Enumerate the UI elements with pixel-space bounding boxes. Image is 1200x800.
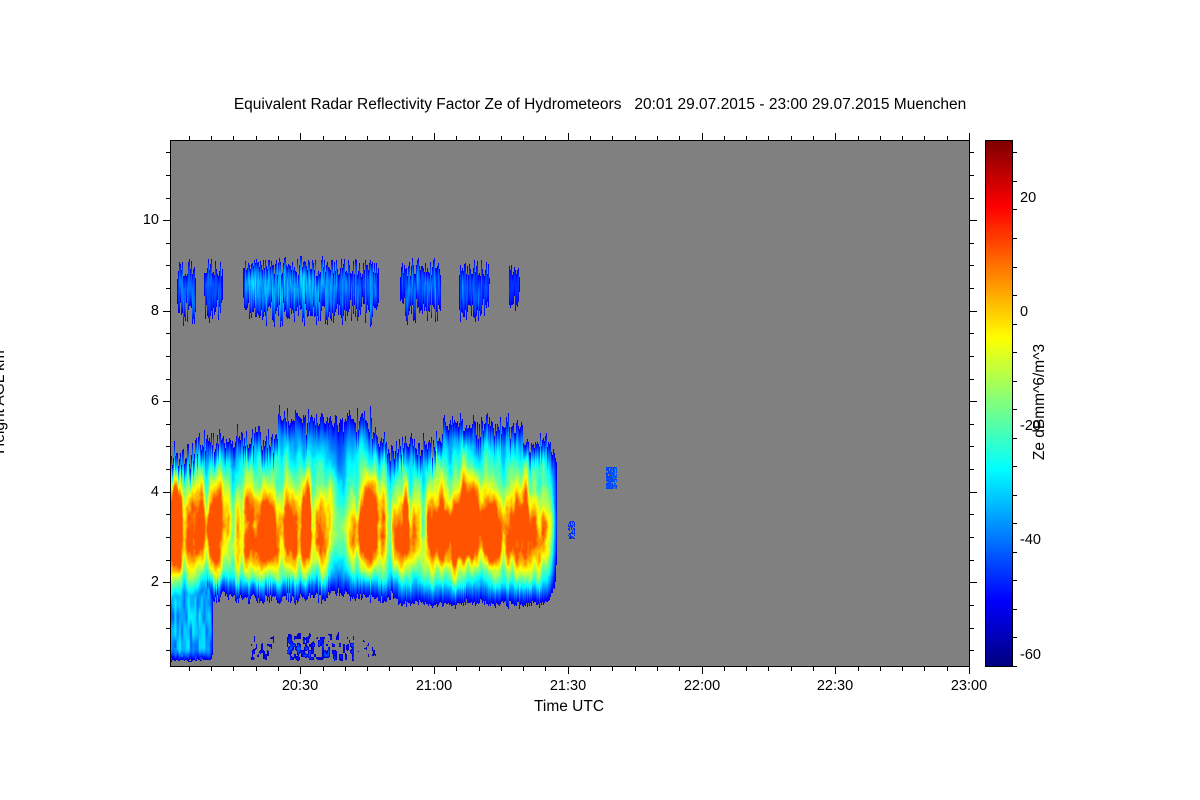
x-tick-minor [345, 136, 346, 140]
x-tick-minor [947, 136, 948, 140]
x-tick-minor [211, 136, 212, 140]
y-tick-minor [970, 537, 974, 538]
x-tick-minor [389, 136, 390, 140]
page-title: Equivalent Radar Reflectivity Factor Ze … [0, 96, 1200, 114]
x-tick-label: 21:00 [416, 678, 452, 694]
x-tick-minor [189, 667, 190, 671]
x-tick-minor [256, 136, 257, 140]
x-tick-minor [233, 136, 234, 140]
colorbar-tick-label: -60 [1020, 647, 1041, 663]
x-tick-minor [479, 667, 480, 671]
plot-area [170, 140, 970, 667]
y-tick-major [970, 220, 977, 221]
y-tick-minor [166, 446, 170, 447]
y-tick-minor [166, 356, 170, 357]
colorbar-tick [1013, 523, 1017, 524]
x-tick-minor [545, 136, 546, 140]
x-tick-major [300, 133, 301, 140]
x-tick-minor [880, 667, 881, 671]
y-tick-minor [166, 560, 170, 561]
y-tick-minor [970, 152, 974, 153]
x-tick-minor [278, 136, 279, 140]
x-tick-minor [501, 136, 502, 140]
x-tick-minor [880, 136, 881, 140]
x-tick-minor [590, 667, 591, 671]
y-tick-minor [970, 333, 974, 334]
colorbar-tick [1013, 267, 1017, 268]
x-tick-minor [367, 136, 368, 140]
radar-figure: Equivalent Radar Reflectivity Factor Ze … [0, 0, 1200, 800]
x-tick-label: 20:30 [282, 678, 318, 694]
x-tick-minor [523, 667, 524, 671]
x-tick-minor [657, 136, 658, 140]
y-tick-minor [166, 514, 170, 515]
x-tick-minor [590, 136, 591, 140]
x-tick-minor [791, 136, 792, 140]
y-tick-major [163, 401, 170, 402]
y-axis-label: Height AGL km [0, 292, 9, 512]
y-tick-label: 10 [113, 212, 159, 228]
x-tick-minor [323, 136, 324, 140]
x-tick-major [969, 667, 970, 674]
y-tick-minor [166, 265, 170, 266]
y-tick-minor [166, 628, 170, 629]
y-tick-minor [166, 605, 170, 606]
x-tick-minor [947, 667, 948, 671]
x-tick-minor [389, 667, 390, 671]
x-tick-minor [479, 136, 480, 140]
x-tick-minor [545, 667, 546, 671]
x-tick-minor [612, 136, 613, 140]
x-tick-minor [233, 667, 234, 671]
x-tick-minor [768, 136, 769, 140]
y-tick-major [163, 492, 170, 493]
x-tick-major [568, 133, 569, 140]
x-tick-minor [924, 667, 925, 671]
y-tick-minor [970, 175, 974, 176]
x-tick-minor [657, 667, 658, 671]
x-tick-major [702, 667, 703, 674]
y-tick-minor [970, 605, 974, 606]
x-tick-minor [256, 667, 257, 671]
x-tick-label: 22:00 [684, 678, 720, 694]
x-tick-major [434, 667, 435, 674]
colorbar-label: Ze dBmm^6/m^3 [1031, 252, 1049, 552]
colorbar-tick [1013, 181, 1017, 182]
x-tick-major [300, 667, 301, 674]
y-tick-minor [166, 175, 170, 176]
x-tick-major [835, 667, 836, 674]
y-tick-major [970, 582, 977, 583]
colorbar [985, 140, 1013, 667]
y-tick-minor [970, 469, 974, 470]
colorbar-tick [1013, 666, 1017, 667]
y-tick-label: 2 [113, 574, 159, 590]
x-tick-label: 23:00 [951, 678, 987, 694]
y-tick-minor [166, 379, 170, 380]
y-tick-label: 4 [113, 484, 159, 500]
radar-reflectivity-heatmap [171, 141, 969, 666]
y-tick-minor [166, 288, 170, 289]
y-tick-minor [166, 198, 170, 199]
colorbar-tick [1013, 552, 1017, 553]
x-tick-minor [323, 667, 324, 671]
y-tick-minor [166, 537, 170, 538]
colorbar-tick-label: 0 [1020, 304, 1028, 320]
y-tick-minor [970, 446, 974, 447]
x-tick-major [434, 133, 435, 140]
colorbar-tick [1013, 580, 1017, 581]
x-tick-minor [501, 667, 502, 671]
y-tick-minor [970, 514, 974, 515]
y-tick-minor [970, 198, 974, 199]
x-tick-minor [858, 136, 859, 140]
x-tick-minor [768, 667, 769, 671]
y-tick-minor [970, 650, 974, 651]
colorbar-tick [1013, 238, 1017, 239]
y-tick-label: 6 [113, 393, 159, 409]
y-tick-minor [166, 333, 170, 334]
x-tick-minor [724, 136, 725, 140]
x-axis-label: Time UTC [170, 698, 968, 716]
x-tick-minor [523, 136, 524, 140]
x-tick-minor [924, 136, 925, 140]
colorbar-tick [1013, 324, 1017, 325]
x-tick-minor [724, 667, 725, 671]
x-tick-minor [813, 667, 814, 671]
y-tick-minor [970, 243, 974, 244]
y-tick-minor [970, 628, 974, 629]
x-tick-minor [679, 667, 680, 671]
y-tick-minor [166, 469, 170, 470]
x-tick-minor [635, 136, 636, 140]
colorbar-tick [1013, 209, 1017, 210]
y-tick-major [970, 401, 977, 402]
x-tick-minor [813, 136, 814, 140]
y-tick-minor [970, 560, 974, 561]
x-tick-minor [367, 667, 368, 671]
y-tick-minor [970, 288, 974, 289]
x-tick-minor [189, 136, 190, 140]
x-tick-minor [858, 667, 859, 671]
colorbar-tick [1013, 295, 1017, 296]
y-tick-major [970, 492, 977, 493]
colorbar-tick [1013, 466, 1017, 467]
x-tick-minor [791, 667, 792, 671]
x-tick-minor [612, 667, 613, 671]
y-tick-label: 8 [113, 303, 159, 319]
x-tick-minor [345, 667, 346, 671]
x-tick-minor [746, 136, 747, 140]
y-tick-minor [166, 424, 170, 425]
colorbar-tick [1013, 352, 1017, 353]
x-tick-minor [679, 136, 680, 140]
x-tick-minor [456, 136, 457, 140]
colorbar-tick-label: 20 [1020, 190, 1036, 206]
colorbar-tick [1013, 152, 1017, 153]
x-tick-minor [211, 667, 212, 671]
x-tick-minor [456, 667, 457, 671]
y-tick-major [163, 582, 170, 583]
x-tick-major [835, 133, 836, 140]
y-tick-minor [166, 650, 170, 651]
colorbar-tick [1013, 495, 1017, 496]
y-tick-major [970, 311, 977, 312]
y-tick-minor [166, 243, 170, 244]
y-tick-minor [970, 265, 974, 266]
x-tick-minor [635, 667, 636, 671]
colorbar-gradient [986, 141, 1012, 666]
colorbar-tick [1013, 409, 1017, 410]
x-tick-major [969, 133, 970, 140]
x-tick-minor [278, 667, 279, 671]
colorbar-tick [1013, 381, 1017, 382]
y-tick-minor [970, 424, 974, 425]
x-tick-minor [746, 667, 747, 671]
y-tick-minor [166, 152, 170, 153]
x-tick-major [568, 667, 569, 674]
colorbar-tick [1013, 438, 1017, 439]
x-tick-major [702, 133, 703, 140]
x-tick-minor [412, 136, 413, 140]
x-tick-minor [412, 667, 413, 671]
colorbar-tick [1013, 637, 1017, 638]
y-tick-minor [970, 379, 974, 380]
x-tick-label: 21:30 [550, 678, 586, 694]
y-tick-major [163, 311, 170, 312]
y-tick-minor [970, 356, 974, 357]
x-tick-label: 22:30 [817, 678, 853, 694]
x-tick-minor [902, 136, 903, 140]
x-tick-minor [902, 667, 903, 671]
colorbar-tick [1013, 609, 1017, 610]
y-tick-major [163, 220, 170, 221]
